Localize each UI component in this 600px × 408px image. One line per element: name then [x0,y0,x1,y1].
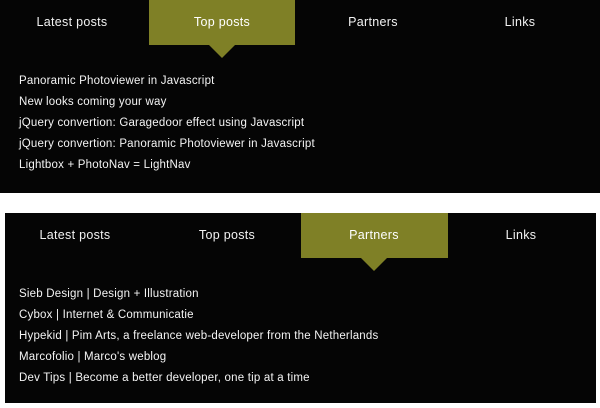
list-item[interactable]: jQuery convertion: Panoramic Photoviewer… [19,139,590,160]
list-item[interactable]: Marcofolio | Marco's weblog [19,352,586,373]
tab-latest-posts[interactable]: Latest posts [5,213,145,258]
top-posts-widget: Latest posts Top posts Partners Links Pa… [0,0,600,193]
widget-2-list: Sieb Design | Design + Illustration Cybo… [19,289,586,394]
active-tab-pointer-icon [361,258,387,271]
tab-latest-posts[interactable]: Latest posts [2,0,142,45]
list-item[interactable]: jQuery convertion: Garagedoor effect usi… [19,118,590,139]
tab-links[interactable]: Links [456,213,586,258]
tab-label: Latest posts [36,16,107,29]
list-item[interactable]: New looks coming your way [19,97,590,118]
widget-2-tabbar: Latest posts Top posts Partners Links [5,213,596,271]
tab-partners[interactable]: Partners [303,0,443,45]
list-item[interactable]: Cybox | Internet & Communicatie [19,310,586,331]
active-tab-pointer-icon [209,45,235,58]
tab-partners[interactable]: Partners [301,213,448,258]
tab-label: Links [506,229,537,242]
list-item[interactable]: Sieb Design | Design + Illustration [19,289,586,310]
list-item[interactable]: Dev Tips | Become a better developer, on… [19,373,586,394]
tab-top-posts[interactable]: Top posts [149,0,295,45]
widget-1-tabbar: Latest posts Top posts Partners Links [0,0,600,58]
tab-top-posts[interactable]: Top posts [157,213,297,258]
tab-links[interactable]: Links [455,0,585,45]
screenshot-root: Latest posts Top posts Partners Links Pa… [0,0,600,408]
list-item[interactable]: Panoramic Photoviewer in Javascript [19,76,590,97]
tab-label: Partners [348,16,398,29]
tab-label: Top posts [199,229,255,242]
partners-widget: Latest posts Top posts Partners Links Si… [5,213,596,403]
tab-label: Top posts [194,16,250,29]
list-item[interactable]: Lightbox + PhotoNav = LightNav [19,160,590,181]
tab-label: Links [505,16,536,29]
widget-1-list: Panoramic Photoviewer in Javascript New … [19,76,590,181]
tab-label: Latest posts [39,229,110,242]
tab-label: Partners [349,229,399,242]
list-item[interactable]: Hypekid | Pim Arts, a freelance web-deve… [19,331,586,352]
